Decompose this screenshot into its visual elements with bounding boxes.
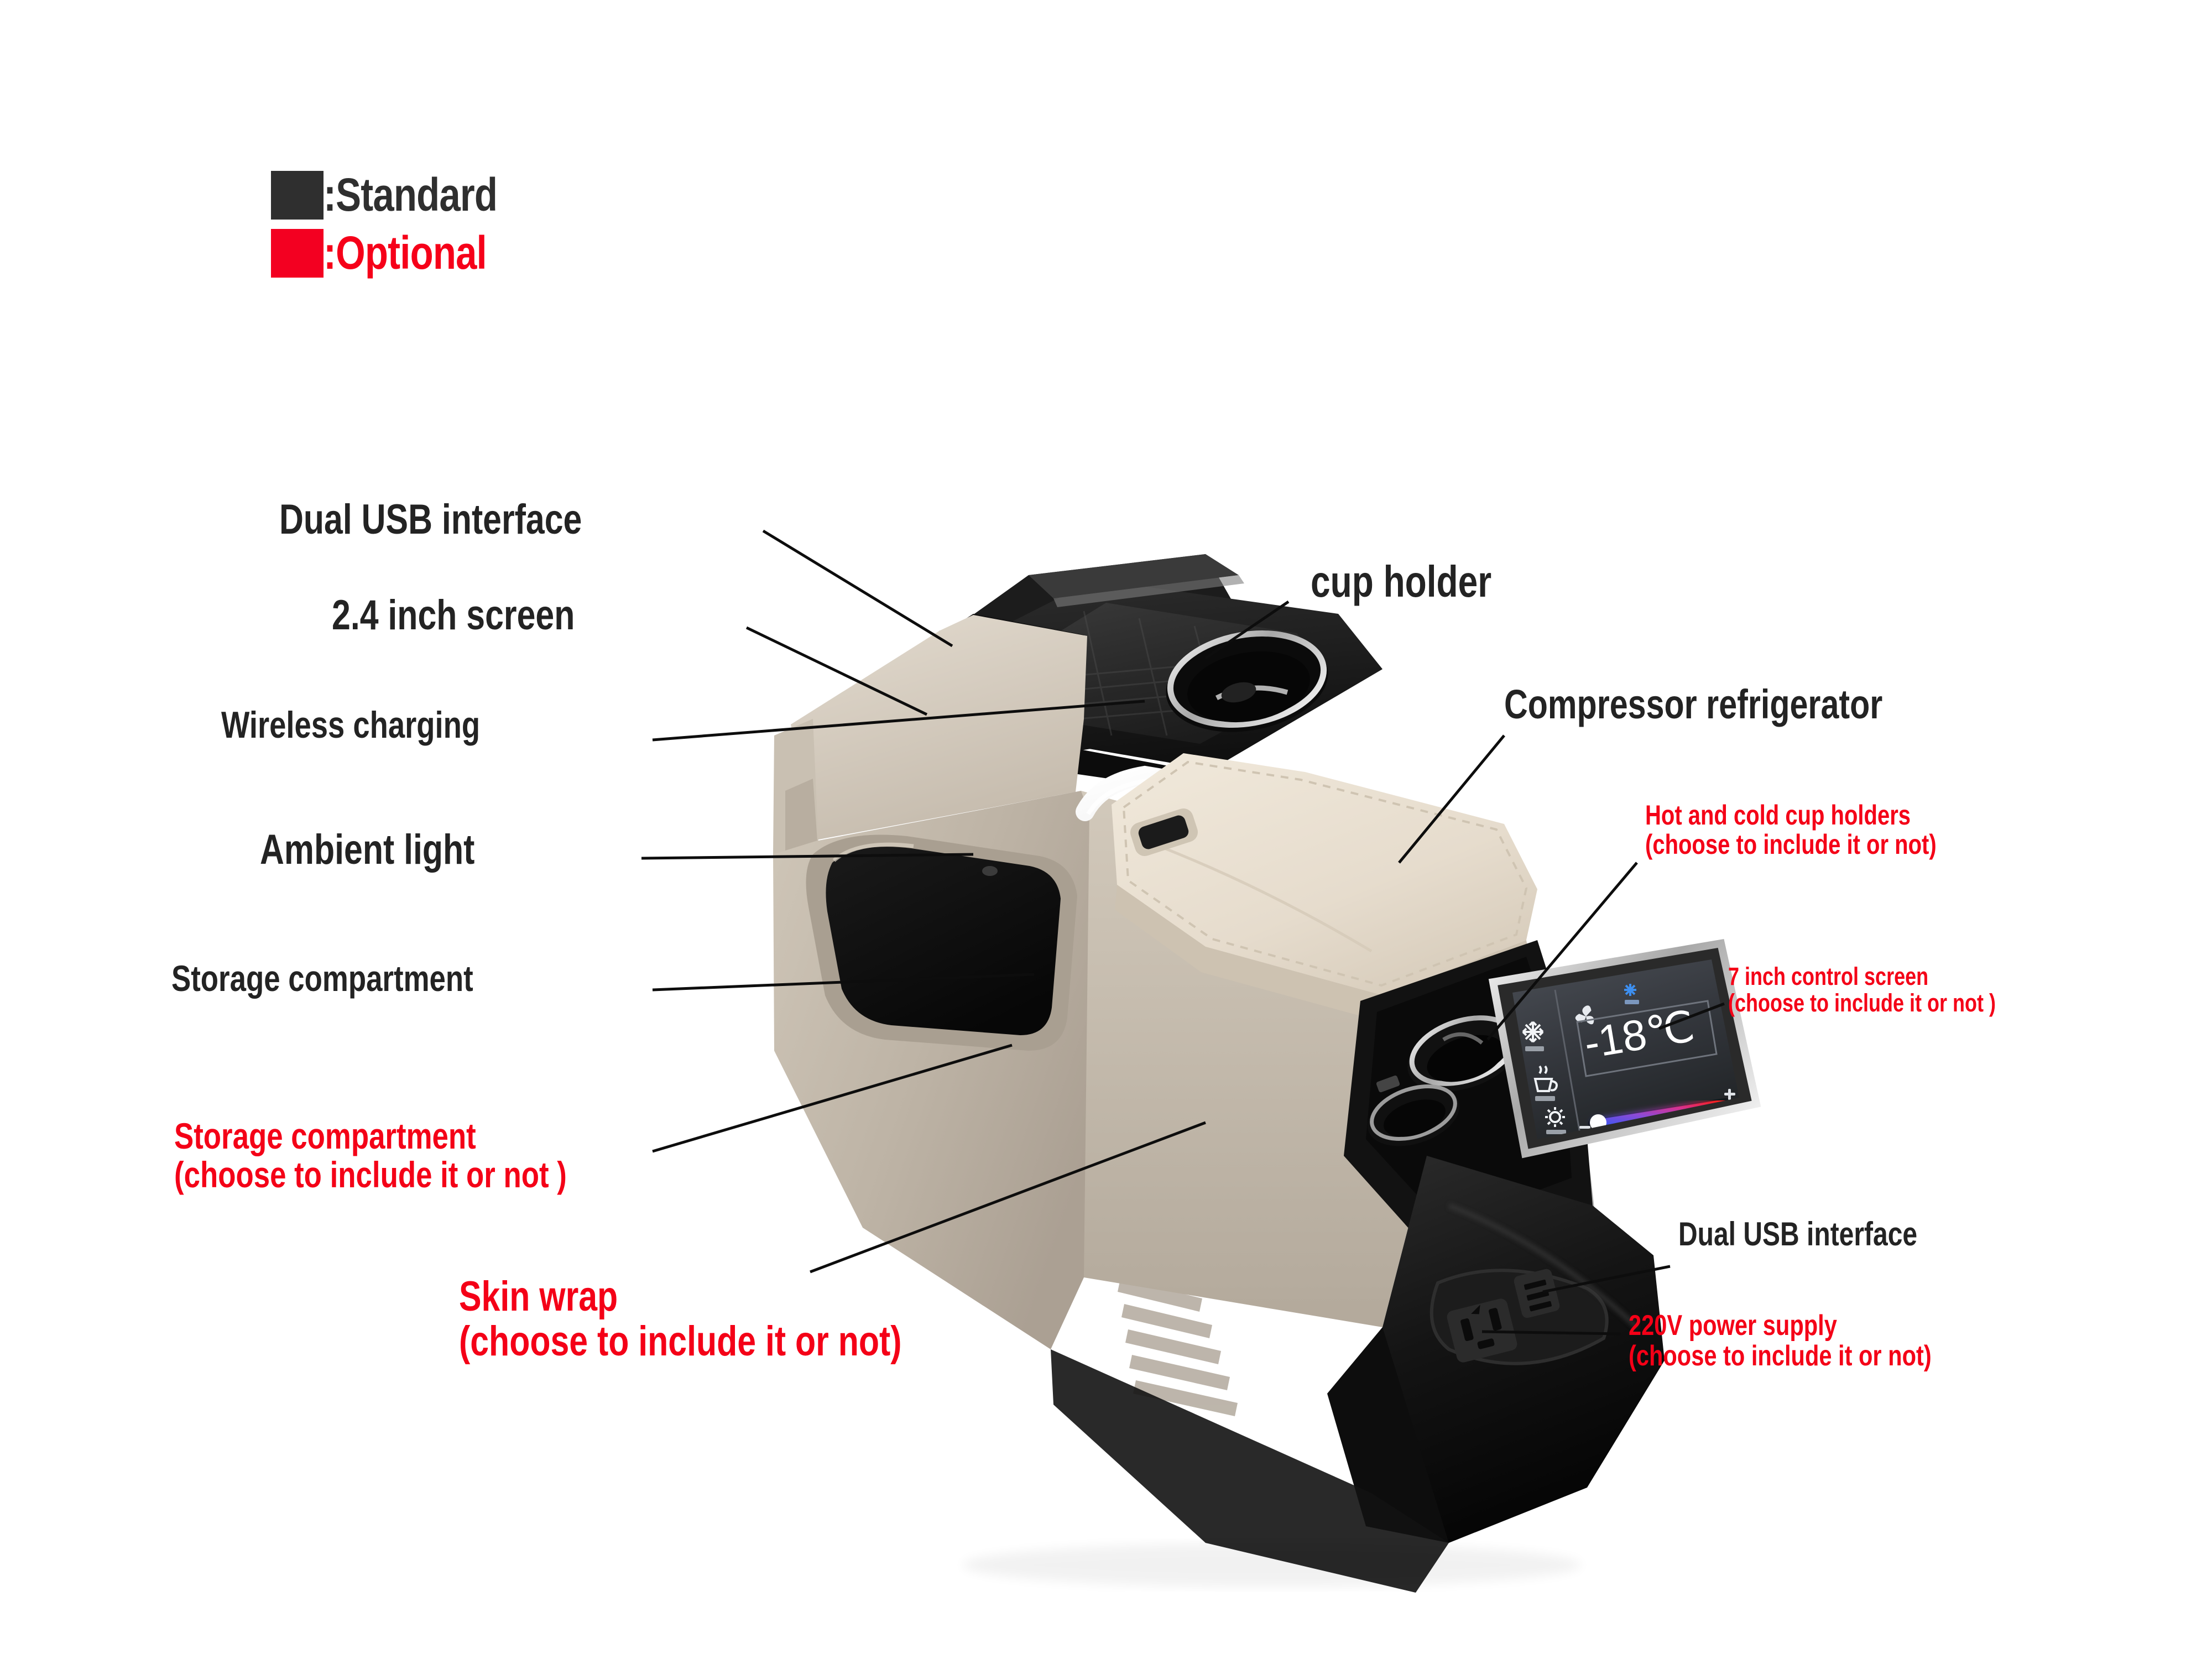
- legend-swatch-standard: [271, 171, 324, 220]
- callout-text: Wireless charging: [221, 705, 480, 745]
- callout-text-line2: (choose to include it or not): [1629, 1341, 1932, 1371]
- callout-compressor-refrigerator: Compressor refrigerator: [1504, 683, 1977, 726]
- leader-screen-24: [747, 628, 927, 714]
- legend-row-standard: :Standard: [271, 166, 535, 224]
- leader-usb-bottom: [1543, 1266, 1670, 1292]
- callout-text-line1: Storage compartment: [174, 1117, 567, 1156]
- callout-text-line1: Skin wrap: [459, 1275, 902, 1319]
- callout-text-line2: (choose to include it or not): [459, 1319, 902, 1364]
- leader-compressor: [1399, 735, 1504, 863]
- leader-usb-top: [763, 531, 952, 646]
- callout-text: Storage compartment: [171, 959, 473, 998]
- leader-cup-holder: [1206, 602, 1288, 658]
- leader-screen-7: [1659, 1004, 1724, 1029]
- callout-storage-compartment-optional: Storage compartment (choose to include i…: [174, 1117, 665, 1194]
- leader-hot-cold: [1488, 863, 1637, 1040]
- legend-label-optional: :Optional: [324, 226, 487, 280]
- callout-dual-usb-top: Dual USB interface: [279, 498, 658, 542]
- callout-text: Dual USB interface: [279, 498, 582, 542]
- callout-skin-wrap: Skin wrap (choose to include it or not): [459, 1275, 1013, 1364]
- leader-storage: [653, 974, 1034, 990]
- legend-swatch-optional: [271, 229, 324, 278]
- callout-220v-power-supply: 220V power supply (choose to include it …: [1629, 1311, 2007, 1371]
- callout-wireless-charging: Wireless charging: [221, 705, 545, 745]
- leader-storage-optional: [653, 1045, 1012, 1151]
- diagram-canvas: -18℃: [0, 0, 2212, 1659]
- callout-7inch-control-screen: 7 inch control screen (choose to include…: [1728, 963, 2063, 1016]
- callout-text: 2.4 inch screen: [332, 593, 575, 638]
- callout-hot-cold-cup-holders: Hot and cold cup holders (choose to incl…: [1645, 801, 2009, 859]
- callout-storage-compartment: Storage compartment: [171, 959, 549, 998]
- callout-text: Dual USB interface: [1678, 1217, 1917, 1252]
- legend-row-optional: :Optional: [271, 224, 535, 282]
- callout-dual-usb-bottom: Dual USB interface: [1678, 1217, 1977, 1252]
- callout-text-line2: (choose to include it or not ): [174, 1156, 567, 1194]
- legend: :Standard :Optional: [271, 166, 535, 282]
- callout-text: Ambient light: [260, 828, 474, 873]
- legend-label-standard: :Standard: [324, 168, 497, 222]
- leader-ambient: [641, 854, 973, 858]
- leader-220v: [1482, 1332, 1620, 1334]
- callout-screen-24inch: 2.4 inch screen: [332, 593, 635, 638]
- callout-cup-holder: cup holder: [1311, 559, 1537, 606]
- callout-text-line2: (choose to include it or not ): [1728, 990, 1996, 1016]
- callout-text: Compressor refrigerator: [1504, 683, 1882, 726]
- leader-wireless: [653, 701, 1145, 740]
- callout-text-line1: Hot and cold cup holders: [1645, 801, 1937, 830]
- leader-skin-wrap: [810, 1123, 1206, 1272]
- callout-text-line2: (choose to include it or not): [1645, 830, 1937, 859]
- callout-ambient-light: Ambient light: [260, 828, 529, 873]
- callout-text-line1: 7 inch control screen: [1728, 963, 1996, 990]
- callout-text-line1: 220V power supply: [1629, 1311, 1932, 1341]
- callout-text: cup holder: [1311, 559, 1491, 606]
